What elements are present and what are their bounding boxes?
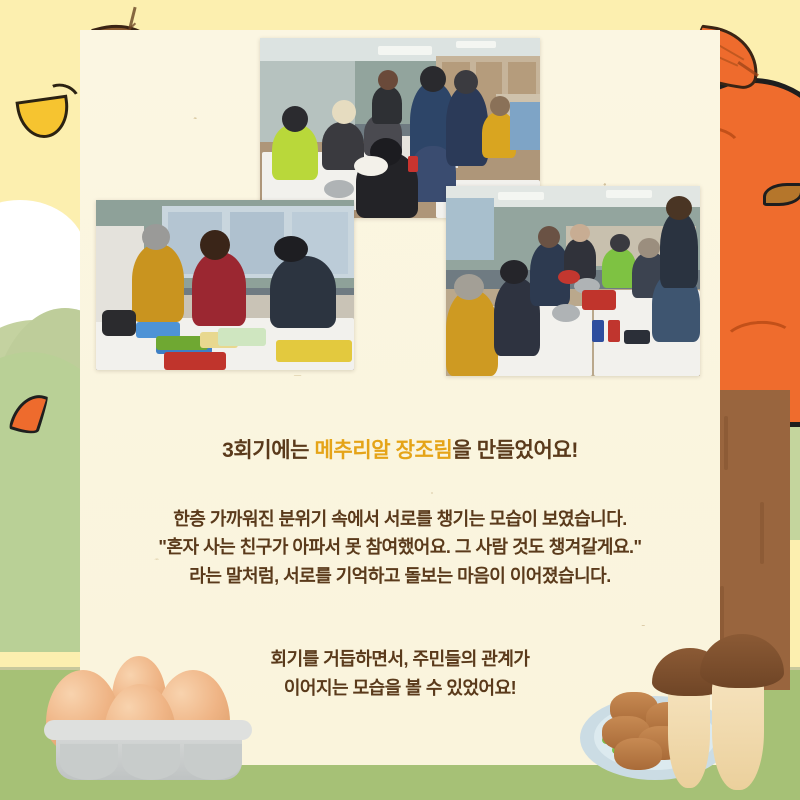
trunk-texture-line <box>724 416 728 470</box>
carton-rim <box>44 720 252 740</box>
mushroom-stem <box>668 680 710 788</box>
tree-leaf-icon <box>763 183 800 206</box>
carton-cup <box>60 744 118 780</box>
ginkgo-leaf-icon <box>18 98 70 138</box>
autumn-community-cooking-card: 3회기에는 메추리알 장조림을 만들었어요! 한층 가까워진 분위기 속에서 서… <box>0 0 800 800</box>
braised-egg-icon <box>614 738 662 770</box>
body-paragraph: 한층 가까워진 분위기 속에서 서로를 챙기는 모습이 보였습니다. "혼자 사… <box>80 505 720 590</box>
body-line-3: 라는 말처럼, 서로를 기억하고 돌보는 마음이 이어졌습니다. <box>80 562 720 590</box>
headline-suffix: 을 만들었어요! <box>452 439 578 462</box>
headline-prefix: 3회기에는 <box>222 439 314 462</box>
egg-carton-illustration <box>16 648 246 778</box>
headline-accent: 메추리알 장조림 <box>314 439 452 462</box>
tree-twig <box>722 319 797 364</box>
body-line-2: "혼자 사는 친구가 아파서 못 참여했어요. 그 사람 것도 챙겨갈게요." <box>80 533 720 561</box>
carton-cup <box>184 744 242 780</box>
photo-shared-table[interactable] <box>446 186 700 376</box>
mushroom-illustration <box>580 630 800 790</box>
body-line-1: 한층 가까워진 분위기 속에서 서로를 챙기는 모습이 보였습니다. <box>80 505 720 533</box>
page-headline: 3회기에는 메추리알 장조림을 만들었어요! <box>80 434 720 464</box>
mushroom-stem <box>712 674 764 790</box>
trunk-texture-line <box>760 502 764 564</box>
photo-prep-counter[interactable] <box>96 200 354 370</box>
mushroom-cap <box>700 634 784 688</box>
carton-cup <box>122 744 180 780</box>
